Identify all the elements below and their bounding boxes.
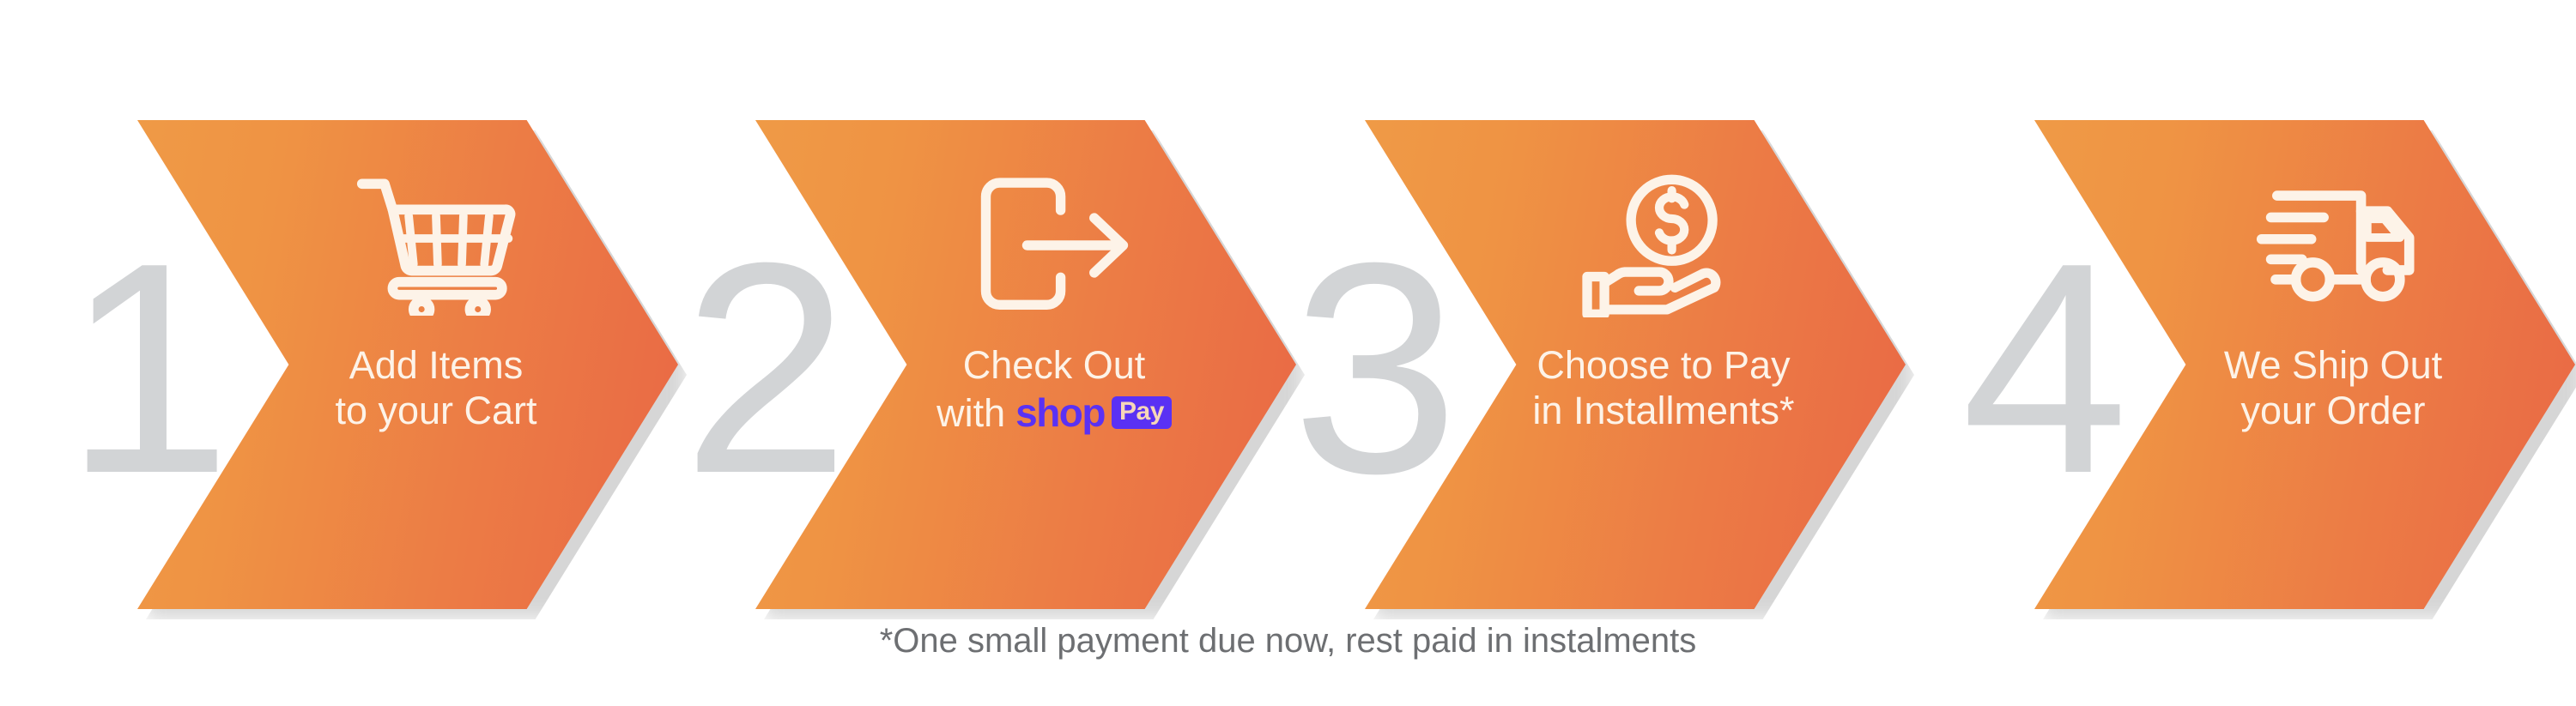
logout-exit-icon: [955, 161, 1153, 329]
process-steps-graphic: 1 Add Items to: [0, 0, 2576, 706]
step-label-line: in Installments*: [1532, 388, 1794, 433]
step-2: 2 Check Out with shop Pay: [712, 120, 1339, 609]
chevron-content: Check Out with shop Pay: [755, 120, 1296, 609]
chevron-2: Check Out with shop Pay: [755, 120, 1296, 609]
step-1: 1 Add Items to: [94, 120, 721, 609]
step-label-line: Choose to Pay: [1532, 342, 1794, 388]
chevron-3: Choose to Pay in Installments*: [1365, 120, 1906, 609]
chevron-1: Add Items to your Cart: [137, 120, 678, 609]
step-4: 4: [1991, 120, 2576, 609]
chevron-content: Add Items to your Cart: [137, 120, 678, 609]
step-label-line: We Ship Out: [2224, 342, 2442, 388]
footnote-text: *One small payment due now, rest paid in…: [0, 622, 2576, 661]
pay-badge: Pay: [1112, 396, 1172, 429]
shoppay-lockup: with shop Pay: [936, 389, 1172, 436]
step-label-line: Add Items: [335, 342, 536, 388]
delivery-truck-icon: [2234, 161, 2432, 329]
chevron-content: We Ship Out your Order: [2034, 120, 2575, 609]
shopping-cart-icon: [337, 161, 535, 329]
shoppay-with-text: with: [936, 390, 1005, 436]
chevron-content: Choose to Pay in Installments*: [1365, 120, 1906, 609]
step-label-3: Choose to Pay in Installments*: [1532, 342, 1794, 433]
step-label-1: Add Items to your Cart: [335, 342, 536, 433]
step-label-line: your Order: [2224, 388, 2442, 433]
step-label-line: to your Cart: [335, 388, 536, 433]
hand-holding-dollar-coin-icon: [1565, 161, 1762, 329]
step-3: 3 Choose to Pay in Installm: [1322, 120, 1949, 609]
step-label-2: Check Out with shop Pay: [936, 342, 1172, 436]
step-label-4: We Ship Out your Order: [2224, 342, 2442, 433]
chevron-4: We Ship Out your Order: [2034, 120, 2575, 609]
step-label-line: Check Out: [936, 342, 1172, 388]
shop-wordmark: shop: [1015, 389, 1105, 436]
